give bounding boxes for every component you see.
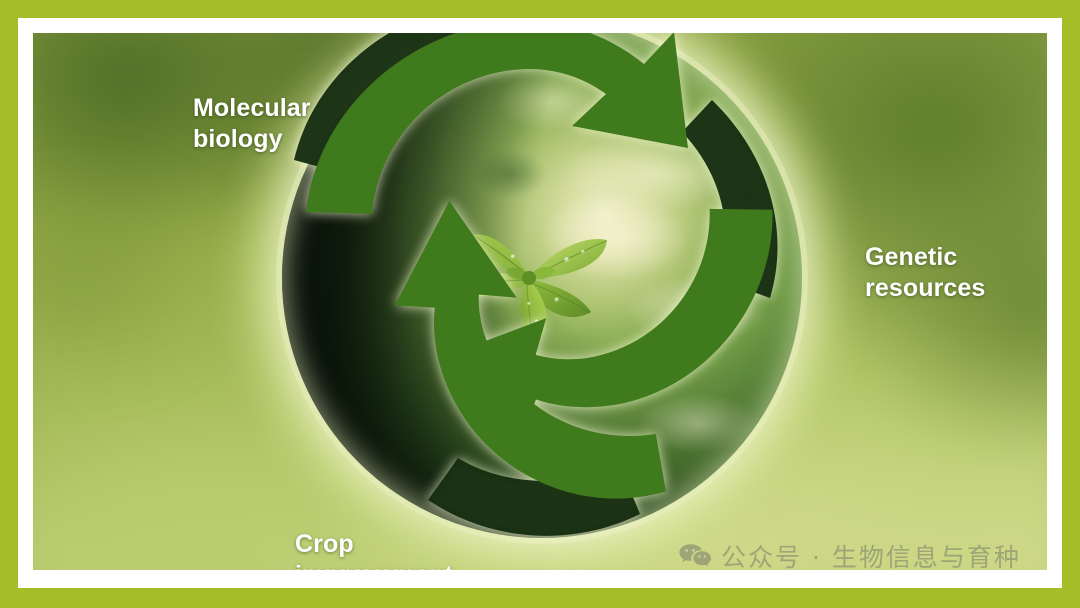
poster-image: Molecular biology Genetic resources Crop…	[33, 33, 1047, 570]
wechat-icon	[678, 543, 712, 569]
recycling-arrows-icon	[242, 33, 842, 570]
poster-frame: Molecular biology Genetic resources Crop…	[0, 0, 1080, 608]
label-genetic-resources: Genetic resources	[865, 242, 985, 303]
watermark-text: 公众号 · 生物信息与育种	[721, 538, 1021, 570]
watermark: 公众号 · 生物信息与育种	[678, 538, 1021, 570]
label-molecular-biology: Molecular biology	[193, 93, 311, 154]
label-crop-improvement: Crop improvement	[295, 529, 453, 570]
